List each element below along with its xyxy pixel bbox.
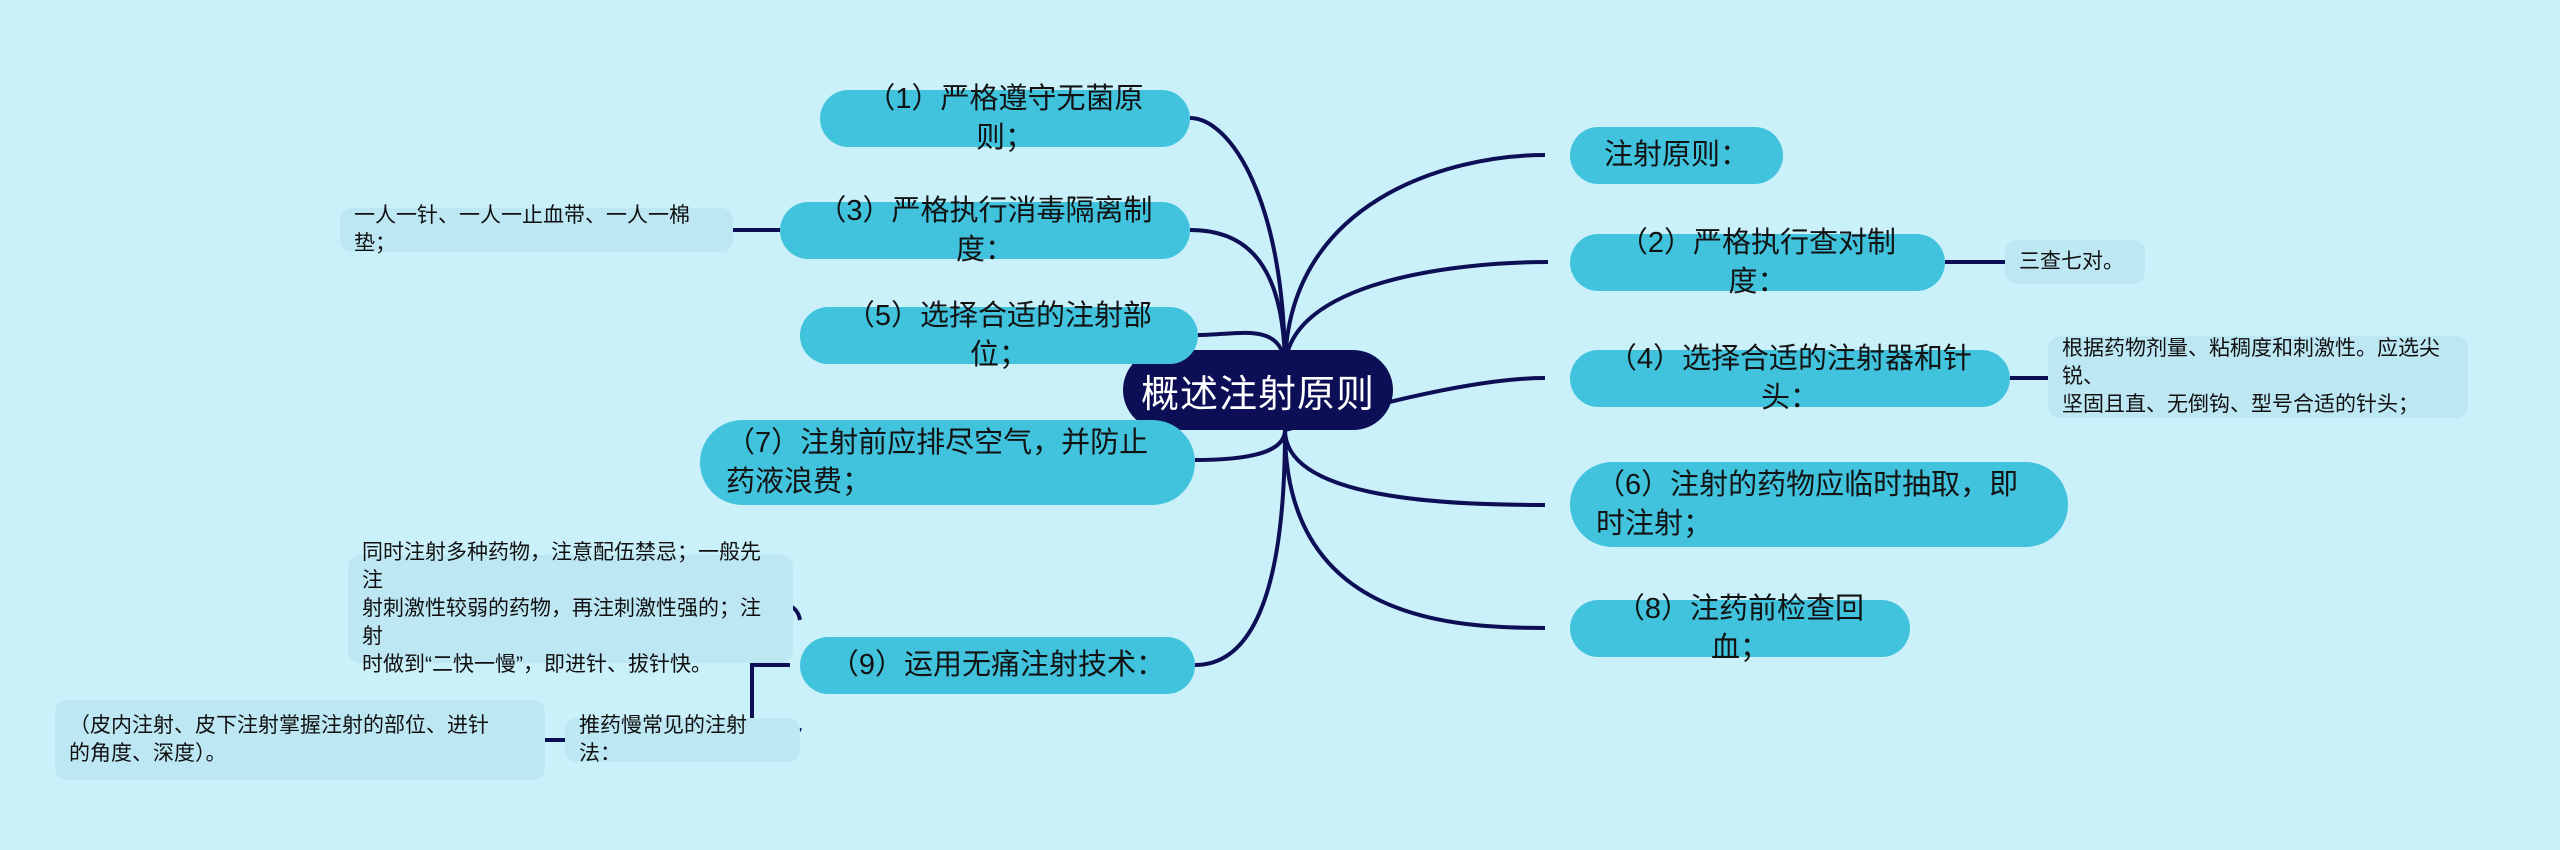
- branch-node-4[interactable]: （4）选择合适的注射器和针头：: [1570, 350, 2010, 407]
- link-root-b3: [1190, 230, 1285, 370]
- branch-node-8[interactable]: （8）注药前检查回血；: [1570, 600, 1910, 657]
- branch-node-5[interactable]: （5）选择合适的注射部位；: [800, 307, 1198, 364]
- leaf-node-r2-child[interactable]: 三查七对。: [2005, 240, 2145, 284]
- link-root-b9: [1195, 430, 1285, 665]
- branch-node-6[interactable]: （6）注射的药物应临时抽取，即 时注射；: [1570, 462, 2068, 547]
- link-root-b1: [1190, 118, 1285, 370]
- leaf-node-r4-child[interactable]: 根据药物剂量、粘稠度和刺激性。应选尖锐、 坚固且直、无倒钩、型号合适的针头；: [2048, 336, 2468, 418]
- leaf-node-b9-child-2[interactable]: 推药慢常见的注射法：: [565, 718, 800, 762]
- link-root-r0: [1285, 155, 1545, 370]
- link-root-b7: [1195, 430, 1285, 460]
- leaf-node-b9-child-1[interactable]: 同时注射多种药物，注意配伍禁忌；一般先注 射刺激性较弱的药物，再注刺激性强的；注…: [348, 555, 793, 663]
- branch-node-1[interactable]: （1）严格遵守无菌原则；: [820, 90, 1190, 147]
- branch-node-2[interactable]: （2）严格执行查对制度：: [1570, 234, 1945, 291]
- branch-node-7[interactable]: （7）注射前应排尽空气，并防止 药液浪费；: [700, 420, 1195, 505]
- link-root-r8: [1285, 430, 1545, 628]
- branch-node-9[interactable]: （9）运用无痛注射技术：: [800, 637, 1195, 694]
- leaf-node-b3-child[interactable]: 一人一针、一人一止血带、一人一棉垫；: [340, 208, 733, 252]
- branch-node-principles[interactable]: 注射原则：: [1570, 127, 1783, 184]
- link-root-r6: [1285, 430, 1545, 505]
- branch-node-3[interactable]: （3）严格执行消毒隔离制度：: [780, 202, 1190, 259]
- leaf-node-b9c2-grandchild[interactable]: （皮内注射、皮下注射掌握注射的部位、进针 的角度、深度）。: [55, 700, 545, 780]
- mindmap-canvas: 概述注射原则 （1）严格遵守无菌原则； （3）严格执行消毒隔离制度： （5）选择…: [0, 0, 2560, 850]
